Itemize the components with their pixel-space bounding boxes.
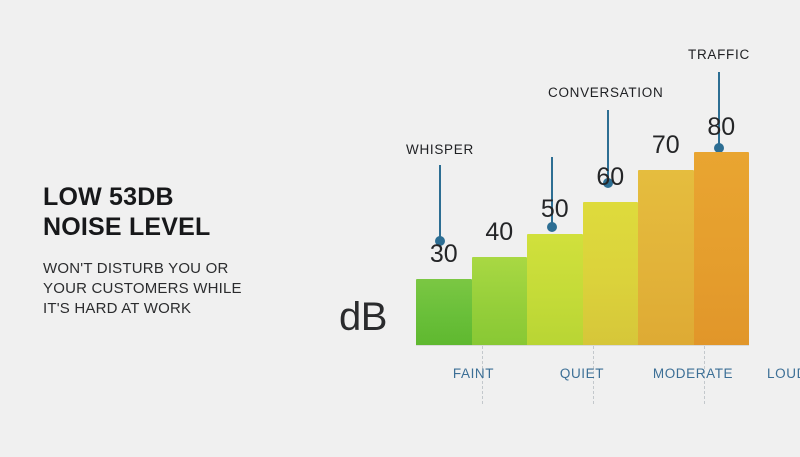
y-axis-unit-label: dB [339,297,387,337]
bar-40[interactable]: 40 [472,257,528,346]
bar-30[interactable]: 30 [416,279,472,346]
copy-block: LOW 53DB NOISE LEVEL WON'T DISTURB YOU O… [43,182,323,319]
bar-70[interactable]: 70 [638,170,694,346]
bar-fill-60 [583,202,639,346]
category-label-quiet: QUIET [526,365,638,383]
bar-value-80: 80 [694,113,750,141]
bar-value-60: 60 [583,163,639,191]
category-label-loud: LOUD [746,365,800,383]
bar-80[interactable]: 80 [694,152,750,346]
page-subtitle: WON'T DISTURB YOU OR YOUR CUSTOMERS WHIL… [43,242,323,319]
bar-fill-50 [527,234,583,346]
bar-fill-80 [694,152,750,346]
noise-level-bar-chart: dB WHISPER POLYCOOL® CONVERSATION TRAFFI… [330,0,800,457]
bar-series: 30 40 50 60 70 80 [416,0,749,346]
bar-value-30: 30 [416,240,472,268]
category-label-faint: FAINT [416,365,531,383]
bar-50[interactable]: 50 [527,234,583,346]
chart-baseline [416,345,749,346]
bar-fill-30 [416,279,472,346]
bar-value-50: 50 [527,195,583,223]
bar-value-40: 40 [472,218,528,246]
bar-value-70: 70 [638,131,694,159]
infographic-canvas: LOW 53DB NOISE LEVEL WON'T DISTURB YOU O… [0,0,800,457]
bar-fill-70 [638,170,694,346]
bar-60[interactable]: 60 [583,202,639,346]
page-title: LOW 53DB NOISE LEVEL [43,182,323,242]
category-axis: FAINT QUIET MODERATE LOUD [406,365,761,385]
category-label-moderate: MODERATE [637,365,749,383]
bar-fill-40 [472,257,528,346]
